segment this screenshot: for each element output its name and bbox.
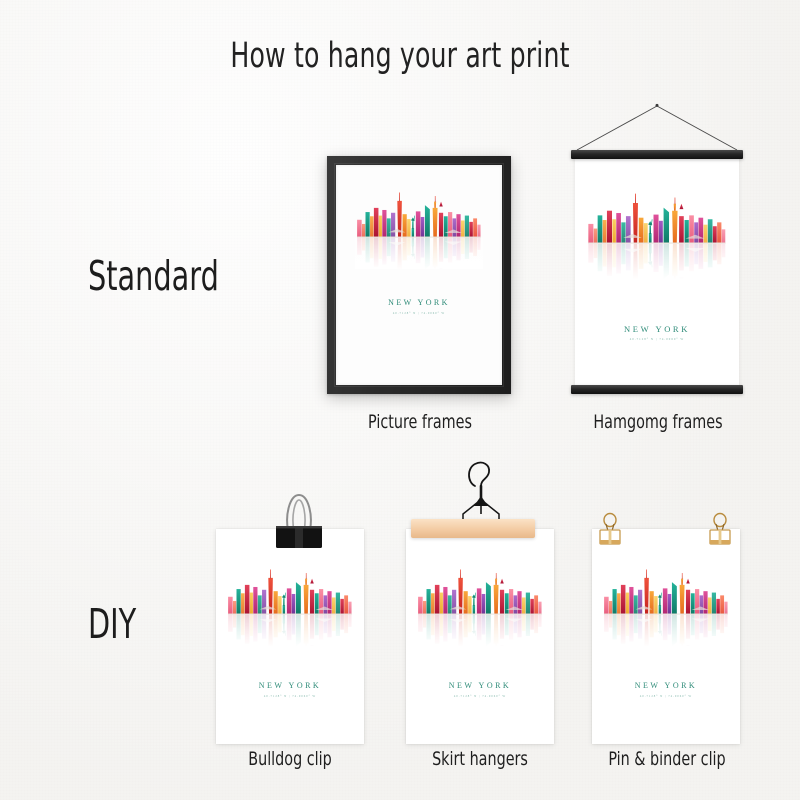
artwork-title: NEW YORK: [259, 682, 321, 690]
artwork-subtitle: 40.7128° N | 74.0060° W: [264, 695, 316, 698]
skyline-artwork: [355, 182, 483, 269]
picture-frame-mockup[interactable]: NEW YORK 40.7128° N | 74.0060° W: [327, 156, 511, 394]
artwork-picture-frame: NEW YORK 40.7128° N | 74.0060° W: [336, 182, 502, 315]
bulldog-clip-icon[interactable]: [266, 486, 332, 548]
gold-binder-clip-left-icon[interactable]: [594, 512, 626, 548]
artwork-subtitle: 40.7128° N | 74.0060° W: [640, 695, 692, 698]
gold-binder-clip-right-icon[interactable]: [704, 512, 736, 548]
caption-skirt-hangers: Skirt hangers: [417, 748, 543, 770]
page-title: How to hang your art print: [80, 36, 720, 76]
artwork-title: NEW YORK: [635, 682, 697, 690]
caption-picture-frames: Picture frames: [349, 411, 492, 433]
artwork-hanging-frame: NEW YORK 40.7128° N | 74.0060° W: [575, 182, 739, 341]
bulldog-clip-print[interactable]: NEW YORK 40.7128° N | 74.0060° W: [216, 529, 364, 744]
section-label-diy: DIY: [88, 600, 136, 648]
hamgomg-frame-mockup[interactable]: NEW YORK 40.7128° N | 74.0060° W: [571, 150, 743, 394]
skyline-artwork: [602, 559, 730, 646]
artwork-subtitle: 40.7128° N | 74.0060° W: [454, 695, 506, 698]
caption-pin-binder-clip: Pin & binder clip: [602, 748, 731, 770]
artwork-skirt: NEW YORK 40.7128° N | 74.0060° W: [406, 559, 554, 698]
caption-hamgomg-frames: Hamgomg frames: [586, 411, 730, 433]
section-label-standard: Standard: [88, 252, 219, 300]
hanger-rail-top[interactable]: [571, 150, 743, 159]
skyline-artwork: [416, 559, 544, 646]
caption-bulldog-clip: Bulldog clip: [227, 748, 353, 770]
hanger-string: [569, 102, 745, 154]
artwork-title: NEW YORK: [624, 325, 690, 334]
frame-mat: NEW YORK 40.7128° N | 74.0060° W: [336, 165, 502, 385]
artwork-title: NEW YORK: [388, 299, 450, 307]
skirt-hanger-wooden-bar[interactable]: [411, 519, 535, 538]
skyline-artwork: [226, 559, 354, 646]
skyline-artwork: [586, 182, 728, 279]
artwork-bulldog: NEW YORK 40.7128° N | 74.0060° W: [216, 559, 364, 698]
hanger-rail-bottom[interactable]: [571, 385, 743, 394]
artwork-pin: NEW YORK 40.7128° N | 74.0060° W: [592, 559, 740, 698]
hanging-poster-sheet: NEW YORK 40.7128° N | 74.0060° W: [575, 158, 739, 387]
skirt-hanger-print[interactable]: NEW YORK 40.7128° N | 74.0060° W: [406, 529, 554, 744]
artwork-subtitle: 40.7128° N | 74.0060° W: [630, 338, 685, 341]
artwork-title: NEW YORK: [449, 682, 511, 690]
pin-binder-clip-print[interactable]: NEW YORK 40.7128° N | 74.0060° W: [592, 529, 740, 744]
artwork-subtitle: 40.7128° N | 74.0060° W: [393, 312, 445, 315]
